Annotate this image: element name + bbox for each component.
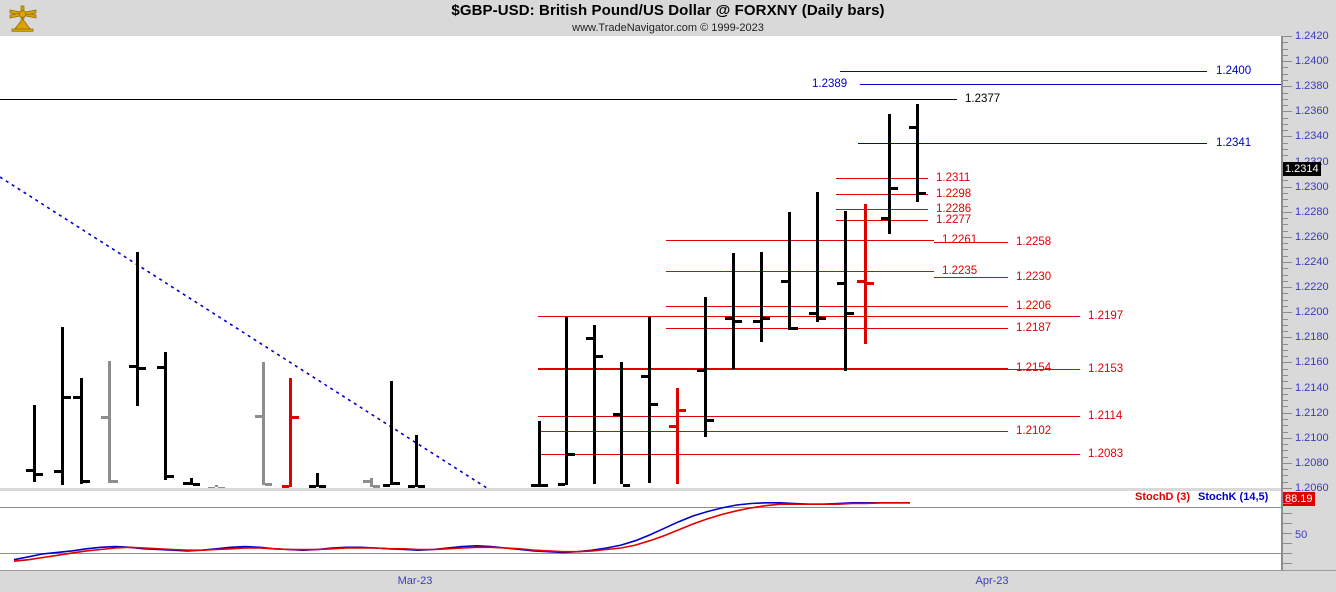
- stochastic-pane[interactable]: StochD (3)StochK (14,5): [0, 491, 1281, 570]
- axis-minor-tick: [1283, 281, 1288, 282]
- ohlc-close-tick: [167, 475, 174, 478]
- axis-minor-tick: [1283, 325, 1288, 326]
- price-level-label: 1.2206: [1016, 300, 1051, 312]
- ohlc-close-tick: [193, 483, 200, 486]
- price-axis-label: 1.2160: [1295, 356, 1329, 368]
- axis-minor-tick: [1283, 99, 1288, 100]
- ohlc-open-tick: [857, 280, 864, 283]
- indicator-legend-item[interactable]: StochK (14,5): [1198, 491, 1268, 503]
- axis-minor-tick: [1283, 419, 1288, 420]
- date-axis-label: Apr-23: [975, 575, 1008, 587]
- price-level-line[interactable]: [858, 143, 1207, 144]
- ohlc-open-tick: [881, 217, 888, 220]
- axis-minor-tick: [1283, 488, 1288, 489]
- chart-screenshot: $GBP-USD: British Pound/US Dollar @ FORX…: [0, 0, 1336, 591]
- axis-minor-tick: [1283, 300, 1288, 301]
- axis-minor-tick: [1283, 237, 1288, 238]
- ohlc-open-tick: [183, 482, 190, 485]
- ohlc-close-tick: [819, 317, 826, 320]
- ohlc-close-tick: [623, 484, 630, 487]
- axis-minor-tick: [1283, 193, 1288, 194]
- axis-minor-tick: [1283, 187, 1288, 188]
- axis-minor-tick: [1283, 36, 1288, 37]
- axis-minor-tick: [1283, 61, 1288, 62]
- ohlc-open-tick: [157, 366, 164, 369]
- ohlc-open-tick: [809, 312, 816, 315]
- ohlc-close-tick: [763, 317, 770, 320]
- price-level-line[interactable]: [836, 220, 928, 221]
- axis-minor-tick: [1283, 67, 1288, 68]
- ohlc-bar[interactable]: [676, 388, 679, 485]
- ohlc-close-tick: [292, 416, 299, 419]
- price-pane[interactable]: 1.24001.23891.23771.23411.23111.22981.22…: [0, 36, 1281, 488]
- ohlc-close-tick: [891, 187, 898, 190]
- ohlc-close-tick: [111, 480, 118, 483]
- ohlc-bar[interactable]: [732, 253, 735, 369]
- price-level-label: 1.2298: [936, 188, 971, 200]
- price-level-label: 1.2341: [1216, 137, 1251, 149]
- stoch-axis-tick: [1283, 563, 1292, 564]
- axis-minor-tick: [1283, 49, 1288, 50]
- date-axis-label: Mar-23: [398, 575, 433, 587]
- ohlc-open-tick: [613, 413, 620, 416]
- axis-minor-tick: [1283, 469, 1288, 470]
- stoch-axis-tick: [1283, 543, 1292, 544]
- ohlc-bar[interactable]: [80, 378, 83, 485]
- ohlc-open-tick: [101, 416, 108, 419]
- axis-minor-tick: [1283, 450, 1288, 451]
- axis-minor-tick: [1283, 130, 1288, 131]
- ohlc-open-tick: [586, 337, 593, 340]
- axis-minor-tick: [1283, 149, 1288, 150]
- axis-minor-tick: [1283, 375, 1288, 376]
- axis-minor-tick: [1283, 55, 1288, 56]
- price-level-line[interactable]: [836, 194, 928, 195]
- price-axis-label: 1.2240: [1295, 256, 1329, 268]
- price-level-label: 1.2102: [1016, 425, 1051, 437]
- price-level-line[interactable]: [538, 368, 1008, 370]
- axis-minor-tick: [1283, 199, 1288, 200]
- axis-minor-tick: [1283, 86, 1288, 87]
- price-level-label: 1.2235: [942, 265, 977, 277]
- axis-minor-tick: [1283, 406, 1288, 407]
- price-level-label: 1.2377: [965, 93, 1000, 105]
- stoch-axis-tick: [1283, 523, 1292, 524]
- ohlc-open-tick: [26, 469, 33, 472]
- ohlc-close-tick: [568, 453, 575, 456]
- ohlc-open-tick: [255, 415, 262, 418]
- axis-minor-tick: [1283, 293, 1288, 294]
- axis-minor-tick: [1283, 444, 1288, 445]
- price-axis[interactable]: 1.24201.24001.23801.23601.23401.23201.23…: [1281, 36, 1336, 570]
- price-level-line[interactable]: [1008, 369, 1080, 370]
- ohlc-open-tick: [383, 484, 390, 487]
- axis-minor-tick: [1283, 93, 1288, 94]
- axis-minor-tick: [1283, 362, 1288, 363]
- price-axis-label: 1.2340: [1295, 130, 1329, 142]
- indicator-legend-item[interactable]: StochD (3): [1135, 491, 1190, 503]
- axis-minor-tick: [1283, 42, 1288, 43]
- axis-minor-tick: [1283, 218, 1288, 219]
- ohlc-bar[interactable]: [538, 421, 541, 486]
- ohlc-open-tick: [641, 375, 648, 378]
- axis-minor-tick: [1283, 136, 1288, 137]
- ohlc-open-tick: [558, 483, 565, 486]
- stoch-axis-tick: [1283, 513, 1292, 514]
- axis-minor-tick: [1283, 432, 1288, 433]
- ohlc-bar[interactable]: [704, 297, 707, 436]
- axis-minor-tick: [1283, 268, 1288, 269]
- ohlc-close-tick: [393, 482, 400, 485]
- ohlc-close-tick: [679, 409, 686, 412]
- ohlc-bar[interactable]: [390, 381, 393, 485]
- axis-minor-tick: [1283, 413, 1288, 414]
- ohlc-open-tick: [363, 480, 370, 483]
- axis-minor-tick: [1283, 388, 1288, 389]
- axis-minor-tick: [1283, 262, 1288, 263]
- current-price-badge: 1.2314: [1283, 162, 1321, 176]
- price-axis-label: 1.2220: [1295, 281, 1329, 293]
- stoch-midline-label: 50: [1295, 529, 1307, 541]
- ohlc-bar[interactable]: [916, 104, 919, 202]
- price-axis-label: 1.2420: [1295, 30, 1329, 42]
- ohlc-close-tick: [83, 480, 90, 483]
- axis-minor-tick: [1283, 180, 1288, 181]
- price-level-label: 1.2258: [1016, 236, 1051, 248]
- axis-minor-tick: [1283, 80, 1288, 81]
- ohlc-close-tick: [139, 367, 146, 370]
- price-level-label: 1.2261: [942, 234, 977, 246]
- chart-subtitle: www.TradeNavigator.com © 1999-2023: [0, 22, 1336, 34]
- ohlc-bar[interactable]: [760, 252, 763, 342]
- ohlc-open-tick: [669, 425, 676, 428]
- ohlc-bar[interactable]: [61, 327, 64, 485]
- ohlc-bar[interactable]: [415, 435, 418, 486]
- axis-minor-tick: [1283, 249, 1288, 250]
- axis-minor-tick: [1283, 155, 1288, 156]
- price-level-line[interactable]: [934, 277, 1008, 278]
- price-level-label: 1.2083: [1088, 448, 1123, 460]
- price-axis-label: 1.2080: [1295, 457, 1329, 469]
- ohlc-bar[interactable]: [136, 252, 139, 406]
- price-level-label: 1.2277: [936, 214, 971, 226]
- ohlc-open-tick: [697, 369, 704, 372]
- axis-minor-tick: [1283, 350, 1288, 351]
- price-axis-label: 1.2400: [1295, 55, 1329, 67]
- axis-minor-tick: [1283, 400, 1288, 401]
- ohlc-bar[interactable]: [164, 352, 167, 480]
- axis-minor-tick: [1283, 256, 1288, 257]
- axis-minor-tick: [1283, 369, 1288, 370]
- price-level-label: 1.2400: [1216, 65, 1251, 77]
- price-level-label: 1.2187: [1016, 322, 1051, 334]
- ohlc-open-tick: [753, 320, 760, 323]
- axis-minor-tick: [1283, 111, 1288, 112]
- axis-minor-tick: [1283, 143, 1288, 144]
- axis-minor-tick: [1283, 118, 1288, 119]
- ohlc-bar[interactable]: [108, 361, 111, 483]
- price-level-line[interactable]: [538, 431, 1008, 432]
- ohlc-bar[interactable]: [262, 362, 265, 485]
- ohlc-close-tick: [867, 282, 874, 285]
- ohlc-open-tick: [837, 282, 844, 285]
- price-axis-label: 1.2360: [1295, 105, 1329, 117]
- ohlc-open-tick: [909, 126, 916, 129]
- price-level-line[interactable]: [666, 306, 1008, 307]
- axis-minor-tick: [1283, 482, 1288, 483]
- axis-minor-tick: [1283, 319, 1288, 320]
- price-level-line[interactable]: [840, 71, 1207, 72]
- axis-minor-tick: [1283, 306, 1288, 307]
- axis-minor-tick: [1283, 331, 1288, 332]
- price-level-line[interactable]: [836, 209, 928, 210]
- axis-minor-tick: [1283, 475, 1288, 476]
- axis-minor-tick: [1283, 231, 1288, 232]
- price-level-label: 1.2153: [1088, 363, 1123, 375]
- ohlc-bar[interactable]: [844, 211, 847, 372]
- ohlc-close-tick: [596, 355, 603, 358]
- price-level-line[interactable]: [0, 99, 957, 100]
- price-level-line[interactable]: [860, 84, 1281, 85]
- axis-minor-tick: [1283, 212, 1288, 213]
- axis-minor-tick: [1283, 463, 1288, 464]
- price-level-label: 1.2230: [1016, 271, 1051, 283]
- ohlc-bar[interactable]: [864, 204, 867, 343]
- ohlc-open-tick: [725, 317, 732, 320]
- ohlc-bar[interactable]: [788, 212, 791, 330]
- axis-minor-tick: [1283, 356, 1288, 357]
- chart-header: $GBP-USD: British Pound/US Dollar @ FORX…: [0, 0, 1336, 36]
- ohlc-open-tick: [129, 365, 136, 368]
- axis-spine: [1281, 36, 1283, 570]
- axis-minor-tick: [1283, 425, 1288, 426]
- stochastic-lines: [0, 491, 1281, 570]
- ohlc-close-tick: [64, 396, 71, 399]
- stoch-axis-tick: [1283, 533, 1292, 534]
- ohlc-open-tick: [781, 280, 788, 283]
- axis-minor-tick: [1283, 394, 1288, 395]
- price-axis-label: 1.2120: [1295, 407, 1329, 419]
- axis-minor-tick: [1283, 275, 1288, 276]
- ohlc-bar[interactable]: [620, 362, 623, 484]
- price-axis-label: 1.2260: [1295, 231, 1329, 243]
- price-level-label: 1.2311: [936, 172, 970, 184]
- price-axis-label: 1.2380: [1295, 80, 1329, 92]
- axis-minor-tick: [1283, 312, 1288, 313]
- date-axis: Mar-23Apr-23: [0, 570, 1336, 592]
- price-level-line[interactable]: [666, 328, 1008, 329]
- axis-minor-tick: [1283, 457, 1288, 458]
- axis-minor-tick: [1283, 224, 1288, 225]
- ohlc-bar[interactable]: [565, 317, 568, 485]
- axis-minor-tick: [1283, 105, 1288, 106]
- ohlc-close-tick: [36, 473, 43, 476]
- price-level-line[interactable]: [538, 316, 1080, 317]
- ohlc-bar[interactable]: [648, 317, 651, 483]
- ohlc-close-tick: [541, 484, 548, 487]
- price-level-label: 1.2154: [1016, 362, 1051, 374]
- ohlc-bar[interactable]: [816, 192, 819, 323]
- axis-minor-tick: [1283, 287, 1288, 288]
- stoch-axis-tick: [1283, 553, 1292, 554]
- axis-minor-tick: [1283, 344, 1288, 345]
- ohlc-bar[interactable]: [593, 325, 596, 484]
- axis-minor-tick: [1283, 74, 1288, 75]
- ohlc-close-tick: [735, 320, 742, 323]
- ohlc-bar[interactable]: [289, 378, 292, 487]
- ohlc-close-tick: [847, 312, 854, 315]
- price-axis-label: 1.2280: [1295, 206, 1329, 218]
- axis-minor-tick: [1283, 243, 1288, 244]
- price-level-label: 1.2197: [1088, 310, 1123, 322]
- price-axis-label: 1.2300: [1295, 181, 1329, 193]
- ohlc-close-tick: [919, 192, 926, 195]
- price-axis-label: 1.2200: [1295, 306, 1329, 318]
- price-axis-label: 1.2140: [1295, 382, 1329, 394]
- page-title: $GBP-USD: British Pound/US Dollar @ FORX…: [0, 2, 1336, 19]
- ohlc-bar[interactable]: [33, 405, 36, 482]
- ohlc-open-tick: [73, 396, 80, 399]
- stoch-axis-tick: [1283, 503, 1292, 504]
- price-level-line[interactable]: [934, 242, 1008, 243]
- axis-minor-tick: [1283, 381, 1288, 382]
- price-level-line[interactable]: [836, 178, 928, 179]
- price-axis-label: 1.2100: [1295, 432, 1329, 444]
- price-axis-label: 1.2180: [1295, 331, 1329, 343]
- ohlc-close-tick: [707, 419, 714, 422]
- price-level-label: 1.2389: [812, 78, 847, 90]
- axis-minor-tick: [1283, 206, 1288, 207]
- price-level-line[interactable]: [666, 271, 934, 272]
- ohlc-open-tick: [54, 470, 61, 473]
- ohlc-open-tick: [531, 484, 538, 487]
- price-level-line[interactable]: [666, 240, 934, 241]
- ohlc-close-tick: [265, 483, 272, 486]
- ohlc-bar[interactable]: [888, 114, 891, 235]
- ohlc-close-tick: [791, 327, 798, 330]
- axis-minor-tick: [1283, 337, 1288, 338]
- ohlc-close-tick: [651, 403, 658, 406]
- price-level-label: 1.2114: [1088, 410, 1122, 422]
- axis-minor-tick: [1283, 124, 1288, 125]
- axis-minor-tick: [1283, 438, 1288, 439]
